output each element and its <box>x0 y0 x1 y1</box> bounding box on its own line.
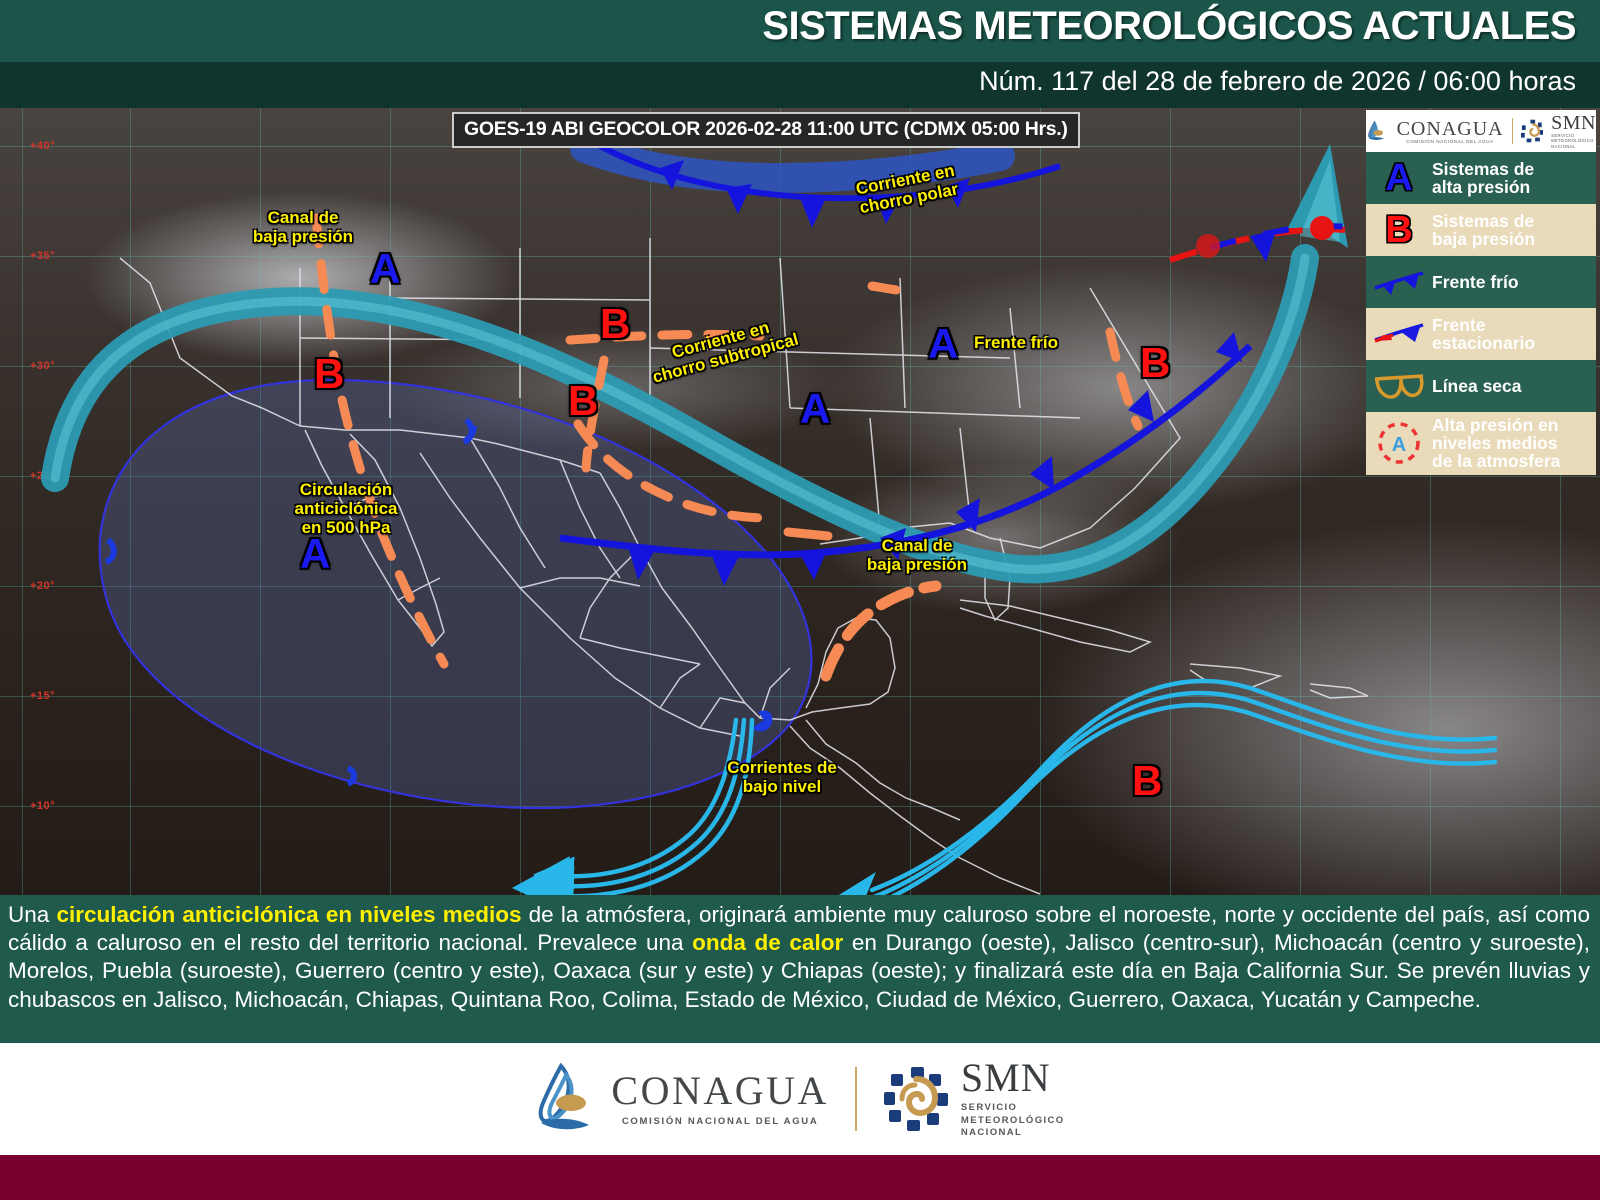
cold-front-icon <box>1366 268 1432 296</box>
disc-highlight-1: circulación anticiclónica en niveles med… <box>56 902 521 927</box>
label-cold-front: Frente frío <box>936 333 1096 352</box>
stationary-front-icon <box>1366 320 1432 348</box>
low-pressure-marker-caribbean: B <box>1132 760 1162 802</box>
footer-smn-sub-1: SERVICIO <box>961 1102 1065 1115</box>
legend-label-mid-level-high: Alta presión en niveles medios de la atm… <box>1432 416 1560 471</box>
legend-symbol-a: A <box>1385 159 1412 197</box>
legend-label-dry-line: Línea seca <box>1432 377 1522 395</box>
letter-b-icon: B <box>1366 211 1432 249</box>
legend-symbol-b: B <box>1385 211 1412 249</box>
weather-bulletin-page: SISTEMAS METEOROLÓGICOS ACTUALES Núm. 11… <box>0 0 1600 1200</box>
bottom-accent-bar <box>0 1155 1600 1200</box>
high-pressure-marker-se: A <box>800 388 830 430</box>
label-anticyclonic-circulation: Circulación anticiclónica en 500 hPa <box>248 480 444 537</box>
discussion-text: Una circulación anticiclónica en niveles… <box>0 895 1600 1043</box>
legend-smn-sublabel: SERVICIO METEOROLÓGICO NACIONAL <box>1551 133 1596 149</box>
map-legend: CONAGUA COMISIÓN NACIONAL DEL AGUA SMN S <box>1366 110 1596 475</box>
high-pressure-marker-nw: A <box>370 248 400 290</box>
low-pressure-marker-texas: B <box>568 380 598 422</box>
smn-spiral-icon <box>883 1066 949 1132</box>
footer-smn-label: SMN <box>961 1058 1065 1098</box>
footer-smn-logo: SMN SERVICIO METEOROLÓGICO NACIONAL <box>883 1058 1065 1140</box>
footer-conagua-label: CONAGUA <box>611 1071 829 1111</box>
legend-brand-header: CONAGUA COMISIÓN NACIONAL DEL AGUA SMN S <box>1366 110 1596 152</box>
legend-brand-divider <box>1512 118 1513 144</box>
dry-line-icon <box>1366 371 1432 401</box>
disc-part-1: Una <box>8 902 56 927</box>
legend-conagua-label: CONAGUA <box>1397 119 1504 139</box>
footer-conagua-logo: CONAGUA COMISIÓN NACIONAL DEL AGUA <box>535 1063 829 1135</box>
legend-item-low-pressure: B Sistemas de baja presión <box>1366 204 1596 256</box>
bulletin-number-date: Núm. 117 del 28 de febrero de 2026 / 06:… <box>979 66 1576 97</box>
conagua-logo-icon <box>1366 118 1389 144</box>
label-trough-northwest: Canal de baja presión <box>212 208 394 246</box>
legend-label-high-pressure: Sistemas de alta presión <box>1432 160 1534 196</box>
legend-label-low-pressure: Sistemas de baja presión <box>1432 212 1535 248</box>
svg-text:A: A <box>1392 434 1406 456</box>
legend-item-cold-front: Frente frío <box>1366 256 1596 308</box>
page-title: SISTEMAS METEOROLÓGICOS ACTUALES <box>762 4 1576 49</box>
footer-smn-sub-3: NACIONAL <box>961 1127 1065 1140</box>
footer-conagua-sublabel: COMISIÓN NACIONAL DEL AGUA <box>622 1116 819 1127</box>
legend-smn-label: SMN <box>1551 113 1596 133</box>
legend-item-mid-level-high: A Alta presión en niveles medios de la a… <box>1366 412 1596 475</box>
letter-a-icon: A <box>1366 159 1432 197</box>
low-pressure-marker-baja: B <box>314 353 344 395</box>
legend-item-dry-line: Línea seca <box>1366 360 1596 412</box>
legend-label-stationary-front: Frente estacionario <box>1432 316 1535 352</box>
low-pressure-marker-atlantic: B <box>1140 342 1170 384</box>
disc-highlight-2: onda de calor <box>692 930 843 955</box>
conagua-water-icon <box>535 1063 597 1135</box>
dry-line-yucatan <box>826 586 936 676</box>
legend-item-high-pressure: A Sistemas de alta presión <box>1366 152 1596 204</box>
label-trough-yucatan: Canal de baja presión <box>822 536 1012 574</box>
label-low-level-currents: Corrientes de bajo nivel <box>688 758 876 796</box>
stationary-front-atlantic <box>1170 216 1350 262</box>
mid-level-high-icon: A <box>1366 418 1432 468</box>
footer-brand-bar: CONAGUA COMISIÓN NACIONAL DEL AGUA <box>0 1043 1600 1155</box>
low-pressure-marker-plains: B <box>600 303 630 345</box>
legend-item-stationary-front: Frente estacionario <box>1366 308 1596 360</box>
footer-smn-sub-2: METEOROLÓGICO <box>961 1115 1065 1128</box>
satellite-weather-map[interactable]: +40° +35° +30° +25° +20° +15° +10° <box>0 108 1600 895</box>
low-level-current-arrowhead-pacific <box>512 856 572 895</box>
legend-label-cold-front: Frente frío <box>1432 273 1519 291</box>
footer-divider <box>855 1067 857 1131</box>
satellite-image-title: GOES-19 ABI GEOCOLOR 2026-02-28 11:00 UT… <box>452 112 1080 148</box>
smn-logo-icon <box>1521 119 1544 143</box>
high-pressure-marker-pacific: A <box>300 533 330 575</box>
low-level-current-caribbean <box>860 681 1495 895</box>
legend-conagua-sublabel: COMISIÓN NACIONAL DEL AGUA <box>1406 139 1494 144</box>
